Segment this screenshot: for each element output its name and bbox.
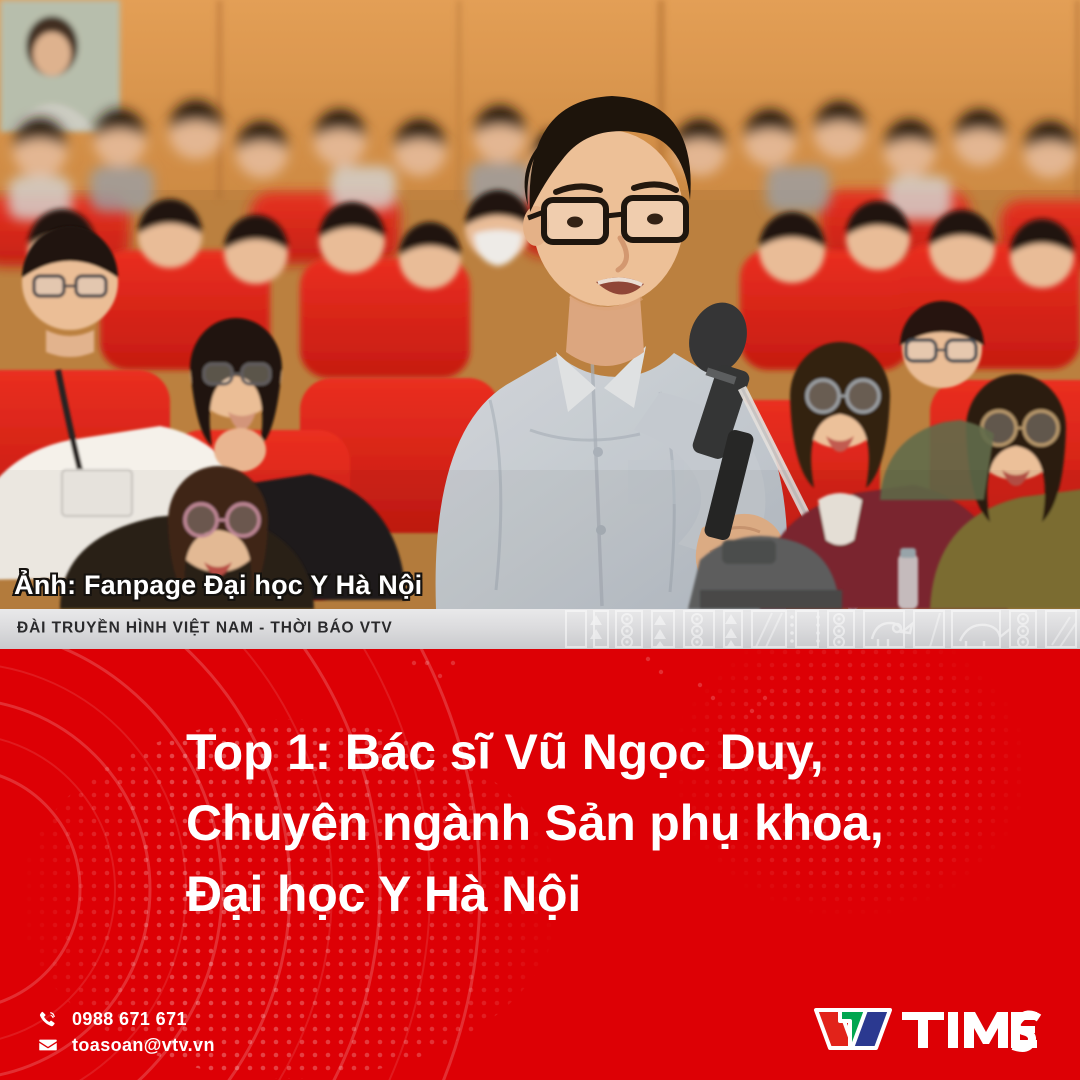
headline-line-3: Đại học Y Hà Nội — [186, 859, 1006, 930]
channel-identity-bar: ĐÀI TRUYỀN HÌNH VIỆT NAM - THỜI BÁO VTV — [0, 609, 1080, 649]
channel-name-bold: - THỜI BÁO VTV — [259, 620, 392, 637]
envelope-icon — [38, 1035, 64, 1055]
contact-row-phone[interactable]: 0988 671 671 — [38, 1006, 215, 1032]
contact-block: 0988 671 671 toasoan@vtv.vn — [38, 1006, 215, 1058]
phone-number: 0988 671 671 — [72, 1009, 187, 1030]
photo-credit-caption: Ảnh: Fanpage Đại học Y Hà Nội — [14, 570, 422, 601]
headline-panel: Top 1: Bác sĩ Vũ Ngọc Duy, Chuyên ngành … — [0, 649, 1080, 1080]
vtv-times-logo[interactable] — [810, 1002, 1042, 1056]
channel-name: ĐÀI TRUYỀN HÌNH VIỆT NAM - THỜI BÁO VTV — [17, 620, 393, 638]
phone-icon — [38, 1010, 64, 1029]
headline-line-1: Top 1: Bác sĩ Vũ Ngọc Duy, — [186, 717, 1006, 788]
photo-illustration — [0, 0, 1080, 609]
email-address: toasoan@vtv.vn — [72, 1035, 215, 1056]
headline-line-2: Chuyên ngành Sản phụ khoa, — [186, 788, 1006, 859]
vtv-times-logo-mark — [810, 1002, 1042, 1056]
dong-son-drum-pattern-icon — [560, 609, 1080, 649]
social-media-card: Ảnh: Fanpage Đại học Y Hà Nội — [0, 0, 1080, 1080]
headline-text: Top 1: Bác sĩ Vũ Ngọc Duy, Chuyên ngành … — [186, 717, 1006, 930]
channel-name-regular: ĐÀI TRUYỀN HÌNH VIỆT NAM — [17, 620, 259, 637]
event-photo: Ảnh: Fanpage Đại học Y Hà Nội — [0, 0, 1080, 609]
contact-row-email[interactable]: toasoan@vtv.vn — [38, 1032, 215, 1058]
